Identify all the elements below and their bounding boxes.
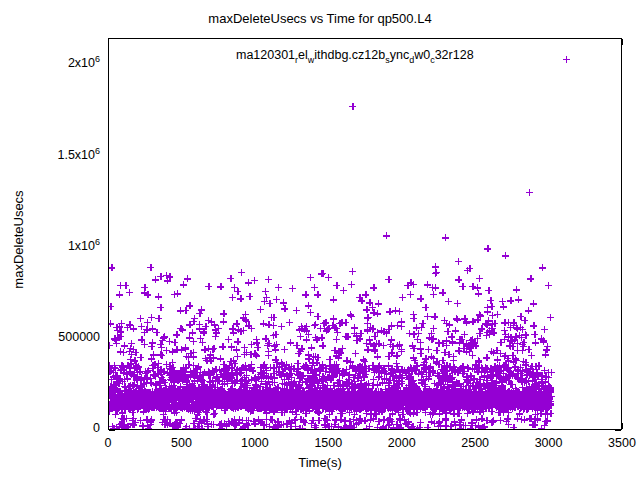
scatter-point	[517, 398, 524, 405]
scatter-point	[316, 400, 323, 407]
scatter-point	[438, 389, 445, 396]
scatter-point	[406, 386, 413, 393]
scatter-point	[167, 405, 174, 412]
scatter-point	[434, 390, 441, 397]
scatter-point	[142, 396, 149, 403]
scatter-point	[465, 404, 472, 411]
scatter-point	[286, 399, 293, 406]
scatter-point	[446, 394, 453, 401]
scatter-point	[284, 392, 291, 399]
scatter-point	[397, 387, 404, 394]
scatter-point	[221, 394, 228, 401]
scatter-point	[179, 390, 186, 397]
scatter-point	[189, 407, 196, 414]
scatter-point	[403, 390, 410, 397]
scatter-point	[444, 397, 451, 404]
scatter-point	[465, 390, 472, 397]
scatter-point	[374, 310, 381, 317]
scatter-point	[211, 368, 218, 375]
scatter-point	[168, 377, 175, 384]
scatter-point	[496, 402, 503, 409]
scatter-point	[164, 277, 171, 284]
scatter-point	[261, 391, 268, 398]
scatter-point	[158, 374, 165, 381]
scatter-point	[389, 410, 396, 417]
scatter-point	[405, 400, 412, 407]
scatter-point	[461, 397, 468, 404]
scatter-point	[381, 393, 388, 400]
scatter-point	[440, 394, 447, 401]
scatter-point	[234, 338, 241, 345]
scatter-point	[414, 398, 421, 405]
scatter-point	[490, 398, 497, 405]
scatter-point	[411, 357, 418, 364]
scatter-point	[464, 377, 471, 384]
scatter-point	[365, 400, 372, 407]
scatter-point	[376, 398, 383, 405]
scatter-point	[265, 374, 272, 381]
scatter-point	[322, 376, 329, 383]
scatter-point	[486, 390, 493, 397]
scatter-point	[355, 404, 362, 411]
scatter-point	[366, 397, 373, 404]
scatter-point	[195, 363, 202, 370]
scatter-point	[491, 400, 498, 407]
scatter-point	[481, 373, 488, 380]
scatter-point	[294, 404, 301, 411]
scatter-point	[457, 425, 464, 430]
scatter-point	[446, 321, 453, 328]
scatter-point	[181, 400, 188, 407]
scatter-point	[145, 403, 152, 410]
scatter-point	[205, 404, 212, 411]
scatter-point	[177, 372, 184, 379]
scatter-point	[173, 409, 180, 416]
scatter-point	[172, 424, 179, 430]
scatter-point	[321, 325, 328, 332]
scatter-point	[286, 371, 293, 378]
scatter-point	[359, 390, 366, 397]
scatter-point	[430, 291, 437, 298]
scatter-point	[527, 275, 534, 282]
scatter-point	[264, 400, 271, 407]
scatter-point	[353, 417, 360, 424]
scatter-point	[437, 401, 444, 408]
scatter-point	[473, 366, 480, 373]
scatter-point	[452, 403, 459, 410]
scatter-point	[405, 382, 412, 389]
scatter-point	[541, 403, 548, 410]
scatter-point	[182, 345, 189, 352]
scatter-point	[337, 389, 344, 396]
scatter-point	[412, 397, 419, 404]
scatter-point	[530, 399, 537, 406]
scatter-point	[333, 404, 340, 411]
scatter-point	[436, 391, 443, 398]
scatter-point	[360, 390, 367, 397]
scatter-point	[529, 377, 536, 384]
scatter-point	[518, 404, 525, 411]
scatter-point	[463, 379, 470, 386]
scatter-point	[343, 392, 350, 399]
scatter-point	[491, 395, 498, 402]
scatter-point	[494, 356, 501, 363]
scatter-point	[231, 284, 238, 291]
scatter-point	[362, 405, 369, 412]
scatter-point	[514, 415, 521, 422]
scatter-point	[436, 401, 443, 408]
scatter-point	[247, 396, 254, 403]
scatter-point	[497, 387, 504, 394]
scatter-point	[206, 398, 213, 405]
scatter-point	[395, 401, 402, 408]
scatter-point	[148, 355, 155, 362]
scatter-point	[463, 373, 470, 380]
scatter-point	[367, 405, 374, 412]
scatter-point	[542, 411, 549, 418]
scatter-point	[170, 379, 177, 386]
scatter-point	[423, 396, 430, 403]
scatter-point	[488, 389, 495, 396]
scatter-point	[321, 384, 328, 391]
scatter-point	[460, 383, 467, 390]
scatter-point	[533, 395, 540, 402]
scatter-point	[387, 393, 394, 400]
scatter-point	[289, 285, 296, 292]
scatter-point	[386, 393, 393, 400]
scatter-point	[457, 385, 464, 392]
scatter-point	[292, 408, 299, 415]
scatter-point	[227, 388, 234, 395]
scatter-point	[441, 399, 448, 406]
scatter-point	[498, 386, 505, 393]
scatter-point	[217, 393, 224, 400]
scatter-point	[264, 394, 271, 401]
scatter-point	[357, 401, 364, 408]
scatter-point	[126, 348, 133, 355]
scatter-point	[127, 356, 134, 363]
scatter-point	[435, 339, 442, 346]
scatter-point	[226, 420, 233, 427]
scatter-point	[218, 401, 225, 408]
scatter-point	[505, 333, 512, 340]
scatter-point	[294, 371, 301, 378]
scatter-point	[429, 369, 436, 376]
scatter-point	[336, 405, 343, 412]
scatter-point	[460, 391, 467, 398]
scatter-point	[463, 395, 470, 402]
scatter-point	[379, 379, 386, 386]
scatter-point	[311, 400, 318, 407]
scatter-point	[146, 393, 153, 400]
scatter-point	[322, 424, 329, 430]
scatter-point	[183, 423, 190, 430]
scatter-point	[144, 368, 151, 375]
scatter-point	[440, 367, 447, 374]
scatter-point	[197, 369, 204, 376]
scatter-point	[478, 415, 485, 422]
scatter-point	[378, 408, 385, 415]
scatter-point	[386, 402, 393, 409]
scatter-point	[398, 392, 405, 399]
scatter-point	[178, 400, 185, 407]
scatter-point	[445, 395, 452, 402]
scatter-point	[422, 389, 429, 396]
scatter-point	[451, 398, 458, 405]
scatter-point	[516, 391, 523, 398]
scatter-point	[471, 402, 478, 409]
scatter-point	[192, 406, 199, 413]
scatter-point	[370, 284, 377, 291]
scatter-point	[267, 402, 274, 409]
scatter-point	[451, 418, 458, 425]
scatter-point	[543, 398, 550, 405]
scatter-point	[129, 395, 136, 402]
scatter-point	[343, 393, 350, 400]
scatter-point	[512, 385, 519, 392]
scatter-point	[486, 396, 493, 403]
scatter-point	[362, 291, 369, 298]
scatter-point	[225, 396, 232, 403]
scatter-point	[362, 371, 369, 378]
scatter-point	[461, 331, 468, 338]
scatter-point	[543, 400, 550, 407]
scatter-point	[168, 399, 175, 406]
scatter-point	[270, 389, 277, 396]
scatter-point	[456, 392, 463, 399]
scatter-point	[409, 423, 416, 430]
scatter-point	[214, 384, 221, 391]
scatter-point	[327, 405, 334, 412]
scatter-point	[127, 368, 134, 375]
scatter-point	[415, 392, 422, 399]
scatter-point	[366, 404, 373, 411]
scatter-point	[240, 314, 247, 321]
scatter-point	[483, 397, 490, 404]
scatter-point	[447, 392, 454, 399]
scatter-point	[436, 392, 443, 399]
scatter-point	[179, 401, 186, 408]
scatter-point	[520, 405, 527, 412]
scatter-point	[513, 389, 520, 396]
scatter-point	[418, 376, 425, 383]
scatter-point	[473, 394, 480, 401]
scatter-point	[152, 400, 159, 407]
scatter-point	[350, 394, 357, 401]
scatter-point	[156, 385, 163, 392]
scatter-point	[353, 337, 360, 344]
scatter-point	[127, 370, 134, 377]
scatter-point	[396, 394, 403, 401]
scatter-point	[123, 401, 130, 408]
scatter-point	[276, 397, 283, 404]
scatter-point	[391, 401, 398, 408]
scatter-point	[356, 399, 363, 406]
scatter-point	[170, 405, 177, 412]
scatter-point	[200, 394, 207, 401]
scatter-point	[287, 391, 294, 398]
scatter-point	[534, 382, 541, 389]
scatter-point	[487, 365, 494, 372]
scatter-point	[438, 393, 445, 400]
scatter-point	[529, 405, 536, 412]
scatter-point	[492, 384, 499, 391]
scatter-point	[262, 401, 269, 408]
scatter-point	[407, 373, 414, 380]
scatter-point	[140, 381, 147, 388]
scatter-point	[244, 392, 251, 399]
scatter-point	[214, 394, 221, 401]
scatter-point	[251, 400, 258, 407]
scatter-point	[517, 400, 524, 407]
scatter-point	[275, 404, 282, 411]
scatter-point	[481, 372, 488, 379]
scatter-point	[389, 373, 396, 380]
scatter-point	[395, 403, 402, 410]
scatter-point	[292, 399, 299, 406]
scatter-point	[427, 401, 434, 408]
scatter-point	[185, 354, 192, 361]
scatter-point	[431, 394, 438, 401]
scatter-point	[524, 400, 531, 407]
scatter-point	[185, 389, 192, 396]
scatter-point	[435, 340, 442, 347]
scatter-point	[307, 401, 314, 408]
scatter-point	[384, 403, 391, 410]
scatter-point	[130, 400, 137, 407]
scatter-point	[182, 403, 189, 410]
scatter-point	[108, 320, 114, 327]
scatter-point	[466, 406, 473, 413]
scatter-point	[165, 396, 172, 403]
scatter-point	[254, 389, 261, 396]
scatter-point	[273, 399, 280, 406]
scatter-point	[360, 394, 367, 401]
scatter-point	[201, 399, 208, 406]
scatter-point	[192, 393, 199, 400]
scatter-point	[130, 383, 137, 390]
scatter-point	[344, 389, 351, 396]
scatter-point	[373, 410, 380, 417]
scatter-point	[258, 405, 265, 412]
scatter-point	[355, 394, 362, 401]
scatter-point	[148, 394, 155, 401]
scatter-point	[182, 396, 189, 403]
scatter-point	[155, 400, 162, 407]
scatter-point	[382, 388, 389, 395]
scatter-point	[346, 401, 353, 408]
scatter-point	[114, 389, 121, 396]
scatter-point	[180, 364, 187, 371]
scatter-point	[238, 365, 245, 372]
scatter-point	[207, 351, 214, 358]
scatter-point	[442, 374, 449, 381]
scatter-point	[288, 370, 295, 377]
scatter-point	[328, 408, 335, 415]
scatter-point	[312, 353, 319, 360]
scatter-point	[492, 402, 499, 409]
scatter-point	[403, 394, 410, 401]
scatter-point	[504, 389, 511, 396]
scatter-point	[330, 394, 337, 401]
scatter-point	[547, 388, 554, 395]
scatter-point	[180, 399, 187, 406]
scatter-point	[165, 405, 172, 412]
scatter-point	[116, 403, 123, 410]
scatter-point	[263, 392, 270, 399]
scatter-point	[531, 397, 538, 404]
scatter-point	[503, 377, 510, 384]
scatter-point	[397, 403, 404, 410]
scatter-point	[269, 393, 276, 400]
scatter-point	[372, 405, 379, 412]
scatter-point	[418, 399, 425, 406]
scatter-point	[422, 391, 429, 398]
scatter-point	[546, 401, 553, 408]
scatter-point	[417, 405, 424, 412]
scatter-point	[293, 392, 300, 399]
scatter-point	[471, 399, 478, 406]
scatter-point	[542, 383, 549, 390]
scatter-point	[529, 395, 536, 402]
scatter-point	[297, 371, 304, 378]
scatter-point	[396, 415, 403, 422]
scatter-point	[343, 402, 350, 409]
scatter-point	[125, 389, 132, 396]
scatter-point	[330, 402, 337, 409]
scatter-point	[231, 392, 238, 399]
scatter-point	[131, 357, 138, 364]
scatter-point	[510, 319, 517, 326]
scatter-point	[144, 376, 151, 383]
scatter-point	[187, 389, 194, 396]
scatter-point	[134, 393, 141, 400]
scatter-point	[288, 395, 295, 402]
scatter-point	[317, 401, 324, 408]
scatter-point	[281, 409, 288, 416]
scatter-point	[492, 389, 499, 396]
scatter-point	[181, 369, 188, 376]
scatter-point	[477, 312, 484, 319]
scatter-point	[291, 393, 298, 400]
y-tick-label: 1x106	[0, 239, 100, 253]
scatter-point	[115, 393, 122, 400]
scatter-point	[451, 402, 458, 409]
scatter-point	[467, 372, 474, 379]
scatter-point	[417, 339, 424, 346]
scatter-point	[536, 390, 543, 397]
scatter-point	[474, 316, 481, 323]
scatter-point	[458, 401, 465, 408]
scatter-point	[319, 373, 326, 380]
scatter-point	[210, 390, 217, 397]
scatter-point	[303, 405, 310, 412]
scatter-point	[256, 392, 263, 399]
scatter-point	[439, 378, 446, 385]
scatter-point	[405, 374, 412, 381]
scatter-point	[295, 397, 302, 404]
scatter-point	[405, 392, 412, 399]
scatter-point	[202, 386, 209, 393]
scatter-point	[453, 401, 460, 408]
scatter-point	[122, 390, 129, 397]
scatter-point	[274, 406, 281, 413]
scatter-point	[233, 402, 240, 409]
scatter-point	[526, 392, 533, 399]
scatter-point	[297, 392, 304, 399]
scatter-point	[462, 422, 469, 429]
scatter-point	[194, 399, 201, 406]
